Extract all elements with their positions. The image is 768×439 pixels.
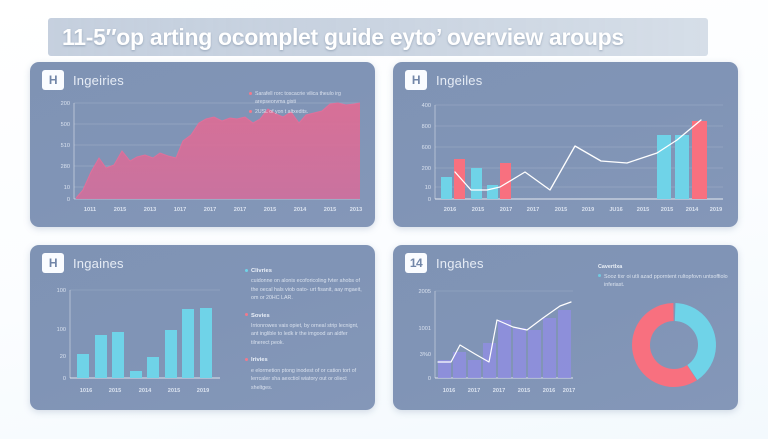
svg-text:1001: 1001 [419,326,431,332]
page-root: 11-5″op arting ocomplet guide eyto’ over… [0,0,768,439]
legend-dot-icon [249,110,252,113]
svg-text:2015: 2015 [661,207,673,213]
card-bar-line-chart[interactable]: H Ingeiles [393,62,738,227]
card-title: Ingeiles [436,73,482,88]
bar [130,371,142,378]
svg-text:2015: 2015 [168,388,180,394]
svg-text:1016: 1016 [443,388,455,394]
svg-text:0: 0 [63,376,66,382]
card-bar-donut-chart[interactable]: 14 Ingahes [393,245,738,410]
purple-bar-chart-svg: 2005 1001 3%0 0 1016 2017 2017 2015 2016… [405,278,577,400]
bar [471,168,482,199]
area-chart-legend: Sarafell rorc toscacrie vilica theulo ir… [249,90,361,118]
note-item: Irivies e elormetion ptong inodest of or… [245,356,365,392]
svg-text:2016: 2016 [543,388,555,394]
svg-text:2019: 2019 [197,388,209,394]
svg-text:0: 0 [428,197,431,203]
card-badge: H [405,70,427,90]
svg-text:2016: 2016 [444,207,456,213]
bar [453,352,466,378]
note-body: cuidonne on alonis ecoforicoling fvter a… [251,278,362,301]
svg-text:2013: 2013 [350,207,362,213]
svg-text:JU16: JU16 [609,207,622,213]
card-title: Ingaines [73,256,124,271]
card-header: H Ingeiles [405,70,482,90]
cyan-bar-chart-plot: 100 100 20 0 1016 2015 2014 2015 2019 [42,278,235,400]
svg-text:2015: 2015 [264,207,276,213]
svg-text:600: 600 [422,145,431,151]
bar [112,332,124,378]
note-heading: Sovies [251,312,365,321]
card-bar-chart-with-notes[interactable]: H Ingaines [30,245,375,410]
svg-text:0: 0 [428,376,431,382]
x-tick-labels: 1016 2017 2017 2015 2016 2017 [443,388,575,394]
card-header: H Ingaines [42,253,124,273]
svg-text:2015: 2015 [518,388,530,394]
svg-text:2017: 2017 [563,388,575,394]
page-title: 11-5″op arting ocomplet guide eyto’ over… [62,24,624,51]
note-heading: Irivies [251,356,365,365]
svg-text:200: 200 [61,101,70,107]
y-tick-labels: 200 500 510 280 10 0 [61,101,70,203]
bars [441,121,707,199]
svg-text:2017: 2017 [468,388,480,394]
svg-text:2014: 2014 [139,388,152,394]
bar [182,309,194,378]
y-tick-labels: 400 800 600 200 10 0 [422,103,431,203]
donut-caption-heading: Cavertlxa [598,263,730,272]
bar [147,357,159,378]
svg-text:1011: 1011 [84,207,96,213]
svg-text:100: 100 [57,288,66,294]
bar [468,360,481,378]
svg-text:0: 0 [67,197,70,203]
page-title-banner: 11-5″op arting ocomplet guide eyto’ over… [48,18,708,56]
dashboard-grid: H Ingeiries [30,62,738,417]
bar [77,354,89,378]
donut-legend-dot-icon [598,274,601,277]
note-body: e elormetion ptong inodest of or cation … [251,368,356,391]
svg-text:100: 100 [57,327,66,333]
svg-text:400: 400 [422,103,431,109]
bar [441,177,452,199]
bar-line-chart-plot: 400 800 600 200 10 0 2016 2015 2017 2017… [405,95,726,217]
card-title: Ingeiries [73,73,124,88]
svg-text:1017: 1017 [174,207,186,213]
svg-text:20: 20 [60,354,66,360]
legend-label: Sarafell rorc toscacrie vilica theulo ir… [255,90,361,106]
svg-text:2019: 2019 [710,207,722,213]
donut-chart[interactable] [628,299,720,396]
svg-text:2015: 2015 [555,207,567,213]
notes-panel: Clivries cuidonne on alonis ecoforicolin… [245,267,365,401]
bar [95,335,107,378]
svg-text:2014: 2014 [686,207,699,213]
bar-line-chart-svg: 400 800 600 200 10 0 2016 2015 2017 2017… [405,95,726,217]
x-tick-labels: 1016 2015 2014 2015 2019 [80,388,209,394]
bar [165,330,177,378]
purple-bar-chart-plot: 2005 1001 3%0 0 1016 2017 2017 2015 2016… [405,278,588,400]
bar [454,159,465,199]
card-area-chart[interactable]: H Ingeiries [30,62,375,227]
svg-text:2005: 2005 [419,289,431,295]
bar [438,360,451,378]
bar [498,320,511,378]
legend-dot-icon [249,92,252,95]
svg-text:2017: 2017 [493,388,505,394]
svg-text:2015: 2015 [637,207,649,213]
cyan-bar-chart-svg: 100 100 20 0 1016 2015 2014 2015 2019 [42,278,224,400]
bar [543,318,556,378]
card-badge: 14 [405,253,427,273]
svg-text:2017: 2017 [234,207,246,213]
card-badge: H [42,253,64,273]
donut-caption-body: Sooz tixr oi utli azad pporntent rultopf… [604,273,730,290]
card-badge: H [42,70,64,90]
svg-text:2015: 2015 [324,207,336,213]
svg-text:500: 500 [61,122,70,128]
donut-caption: Cavertlxa Sooz tixr oi utli azad ppornte… [598,263,730,290]
svg-text:10: 10 [64,185,70,191]
svg-text:800: 800 [422,124,431,130]
legend-item: Sarafell rorc toscacrie vilica theulo ir… [249,90,361,106]
donut-chart-svg [628,299,720,391]
card-title: Ingahes [436,256,484,271]
svg-text:2019: 2019 [582,207,594,213]
y-tick-labels: 2005 1001 3%0 0 [419,289,431,382]
bar [528,330,541,378]
svg-text:10: 10 [425,185,431,191]
svg-text:2017: 2017 [204,207,216,213]
svg-text:2015: 2015 [114,207,126,213]
note-item: Clivries cuidonne on alonis ecoforicolin… [245,267,365,303]
x-tick-labels: 2016 2015 2017 2017 2015 2019 JU16 2015 … [444,207,722,213]
note-dot-icon [245,313,248,316]
y-tick-labels: 100 100 20 0 [57,288,66,382]
card-header: H Ingeiries [42,70,124,90]
svg-text:2015: 2015 [472,207,484,213]
svg-text:2017: 2017 [500,207,512,213]
svg-text:1016: 1016 [80,388,92,394]
bars [77,308,212,378]
svg-text:2014: 2014 [294,207,307,213]
bars [438,310,571,378]
svg-text:3%0: 3%0 [420,352,431,358]
svg-text:200: 200 [422,166,431,172]
note-dot-icon [245,358,248,361]
bar [200,308,212,378]
bar [558,310,571,378]
legend-label: 2USL of yon t altxedits. [255,108,308,116]
x-tick-labels: 1011 2015 2013 1017 2017 2017 2015 2014 … [84,207,362,213]
card-header: 14 Ingahes [405,253,484,273]
note-body: Irrionrowes vais opiet, by orneal strip … [251,323,358,346]
note-heading: Clivries [251,267,365,276]
svg-text:510: 510 [61,143,70,149]
bar [692,121,707,199]
svg-text:2017: 2017 [527,207,539,213]
svg-text:280: 280 [61,164,70,170]
svg-text:2013: 2013 [144,207,156,213]
bar [675,135,689,199]
svg-text:2015: 2015 [109,388,121,394]
bar [513,328,526,378]
bar [487,185,498,199]
note-item: Sovies Irrionrowes vais opiet, by orneal… [245,312,365,348]
legend-item: 2USL of yon t altxedits. [249,108,361,116]
note-dot-icon [245,269,248,272]
